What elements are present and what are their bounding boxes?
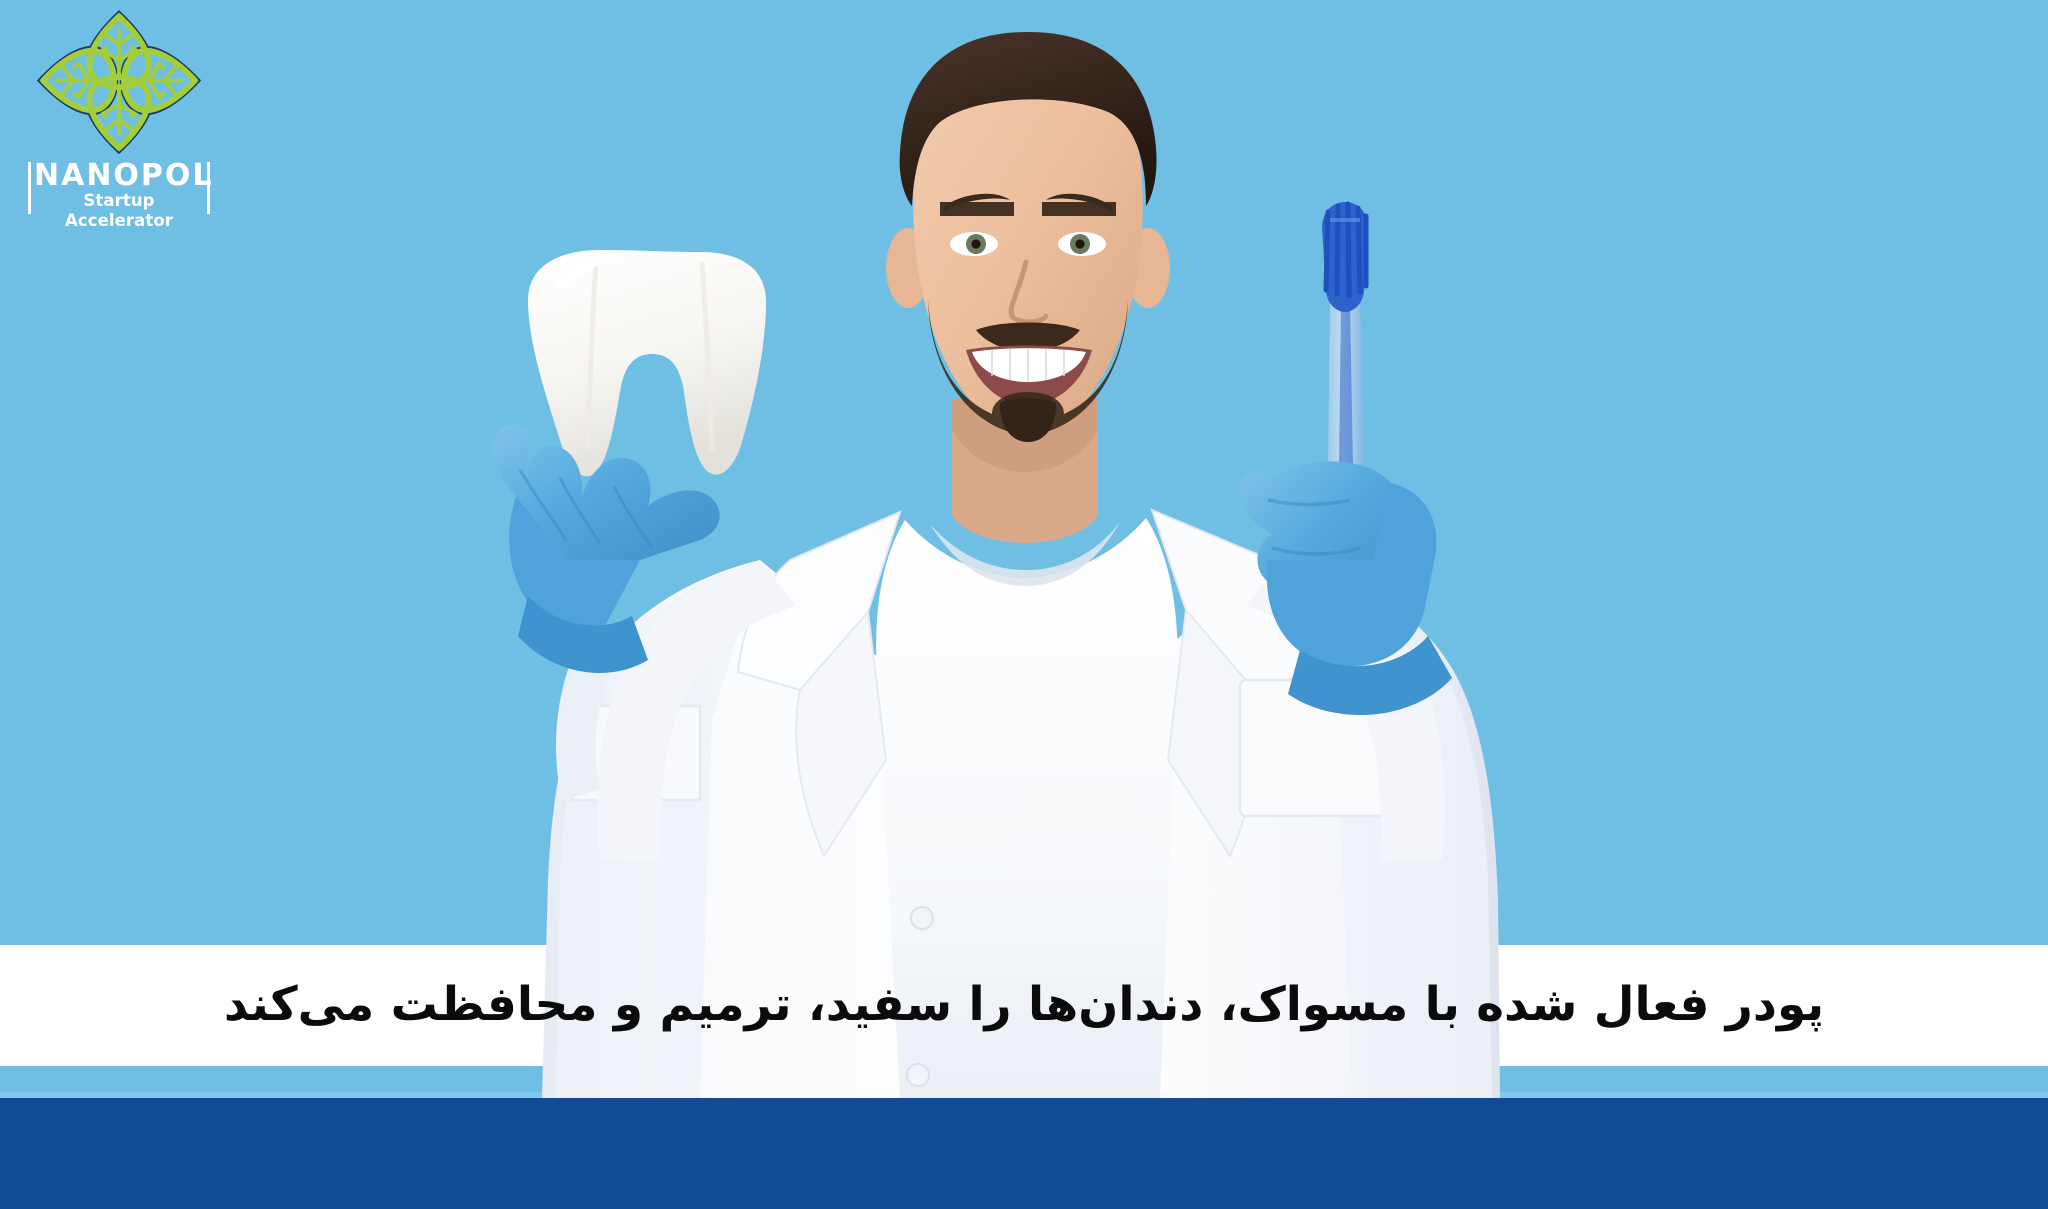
eye-right — [1058, 232, 1106, 256]
caption-headline: پودر فعال شده با مسواک، دندان‌ها را سفید… — [224, 976, 1824, 1035]
logo-wordmark: NANOPOL Startup Accelerator — [24, 160, 214, 231]
banner-root: NANOPOL Startup Accelerator پودر فعال شد… — [0, 0, 2048, 1209]
tooth-model — [528, 250, 766, 476]
nanopol-logo[interactable]: NANOPOL Startup Accelerator — [24, 8, 214, 208]
nanopol-floral-mark-icon — [34, 8, 204, 158]
eye-left — [950, 232, 998, 256]
logo-brand-name: NANOPOL — [34, 160, 204, 191]
dentist-photo — [0, 0, 2048, 1098]
logo-tagline: Startup Accelerator — [34, 191, 204, 231]
head — [886, 32, 1170, 442]
footer-blue-bar — [0, 1098, 2048, 1209]
dentist-illustration — [0, 0, 2048, 1098]
caption-container: پودر فعال شده با مسواک، دندان‌ها را سفید… — [0, 945, 2048, 1066]
